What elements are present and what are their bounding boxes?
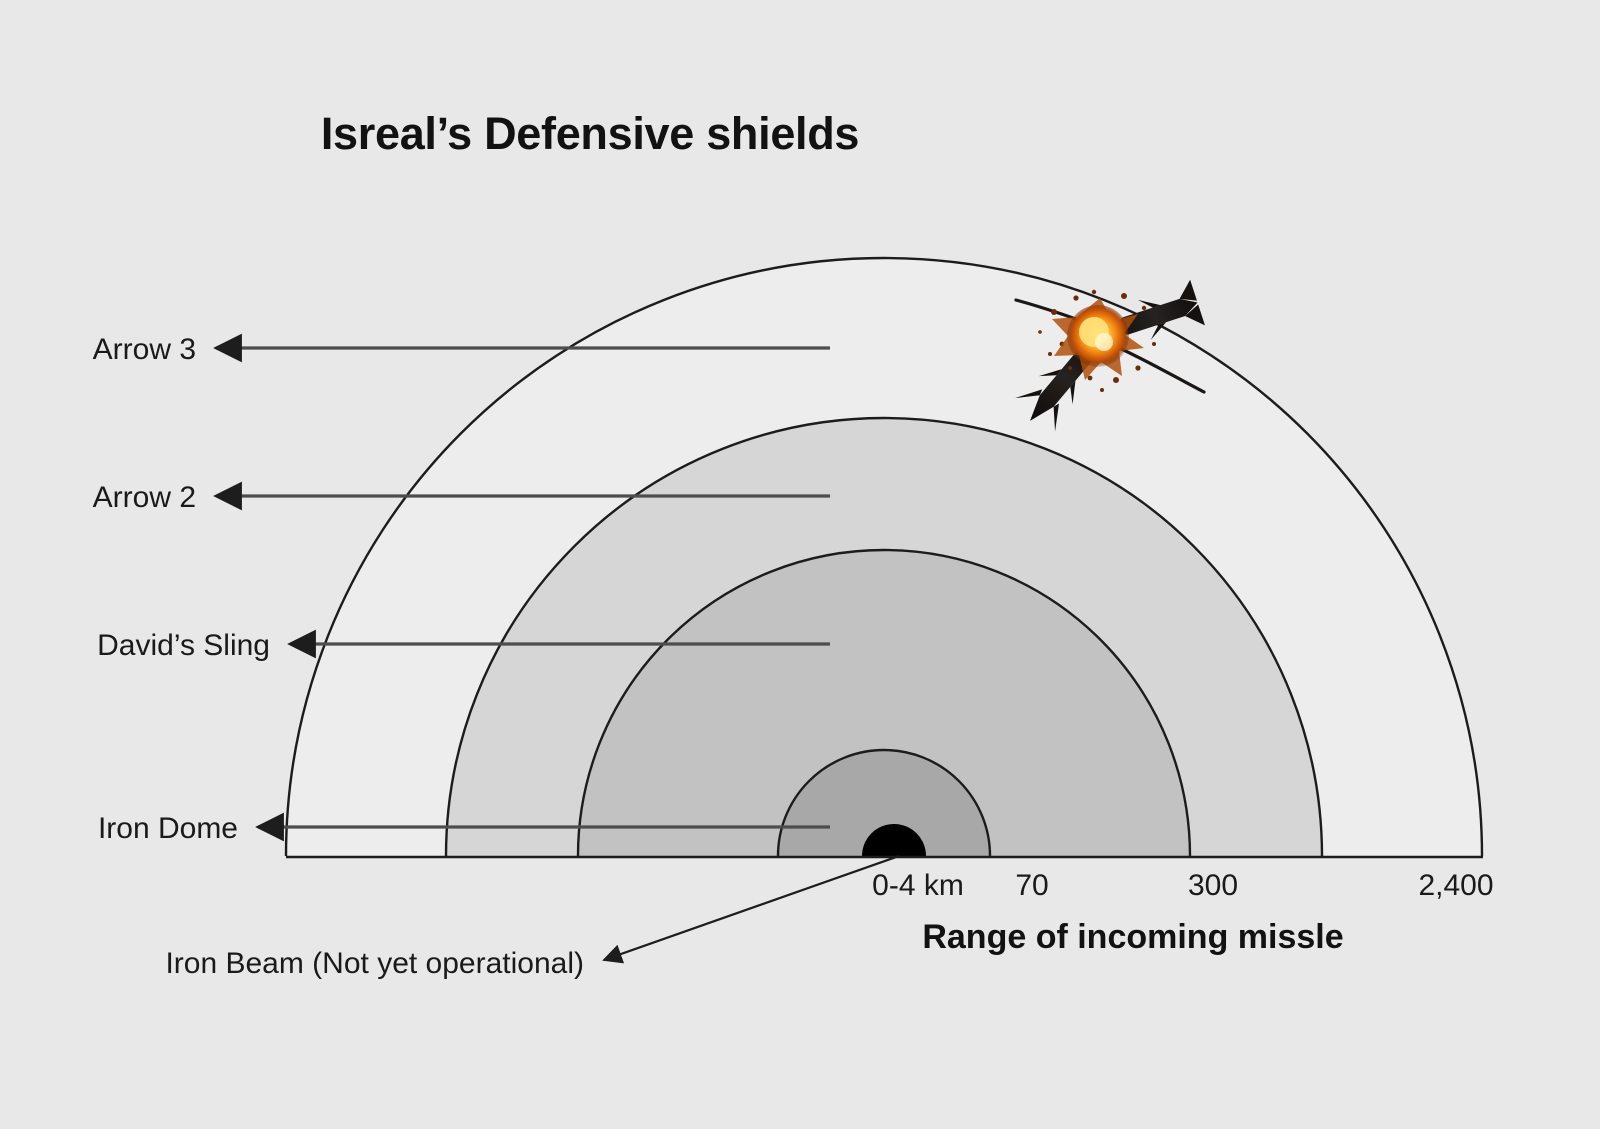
shield-rings-group [286, 258, 1482, 1129]
label-arrow-2: Arrow 2 [93, 481, 196, 514]
label-arrow-3: Arrow 3 [93, 333, 196, 366]
axis-title: Range of incoming missle [922, 918, 1343, 956]
tick-label-3: 2,400 [1418, 869, 1493, 902]
label-iron-beam: Iron Beam (Not yet operational) [165, 947, 584, 980]
label-davids-sling: David’s Sling [97, 629, 270, 662]
tick-label-0: 0-4 km [872, 869, 964, 902]
infographic-canvas: Isreal’s Defensive shields [0, 0, 1600, 1129]
defensive-shields-diagram: Arrow 3 Arrow 2 David’s Sling Iron Dome … [0, 0, 1600, 1129]
label-iron-dome: Iron Dome [98, 812, 238, 845]
tick-label-1: 70 [1015, 869, 1048, 902]
leader-line-iron-beam [604, 856, 899, 960]
tick-label-2: 300 [1188, 869, 1238, 902]
